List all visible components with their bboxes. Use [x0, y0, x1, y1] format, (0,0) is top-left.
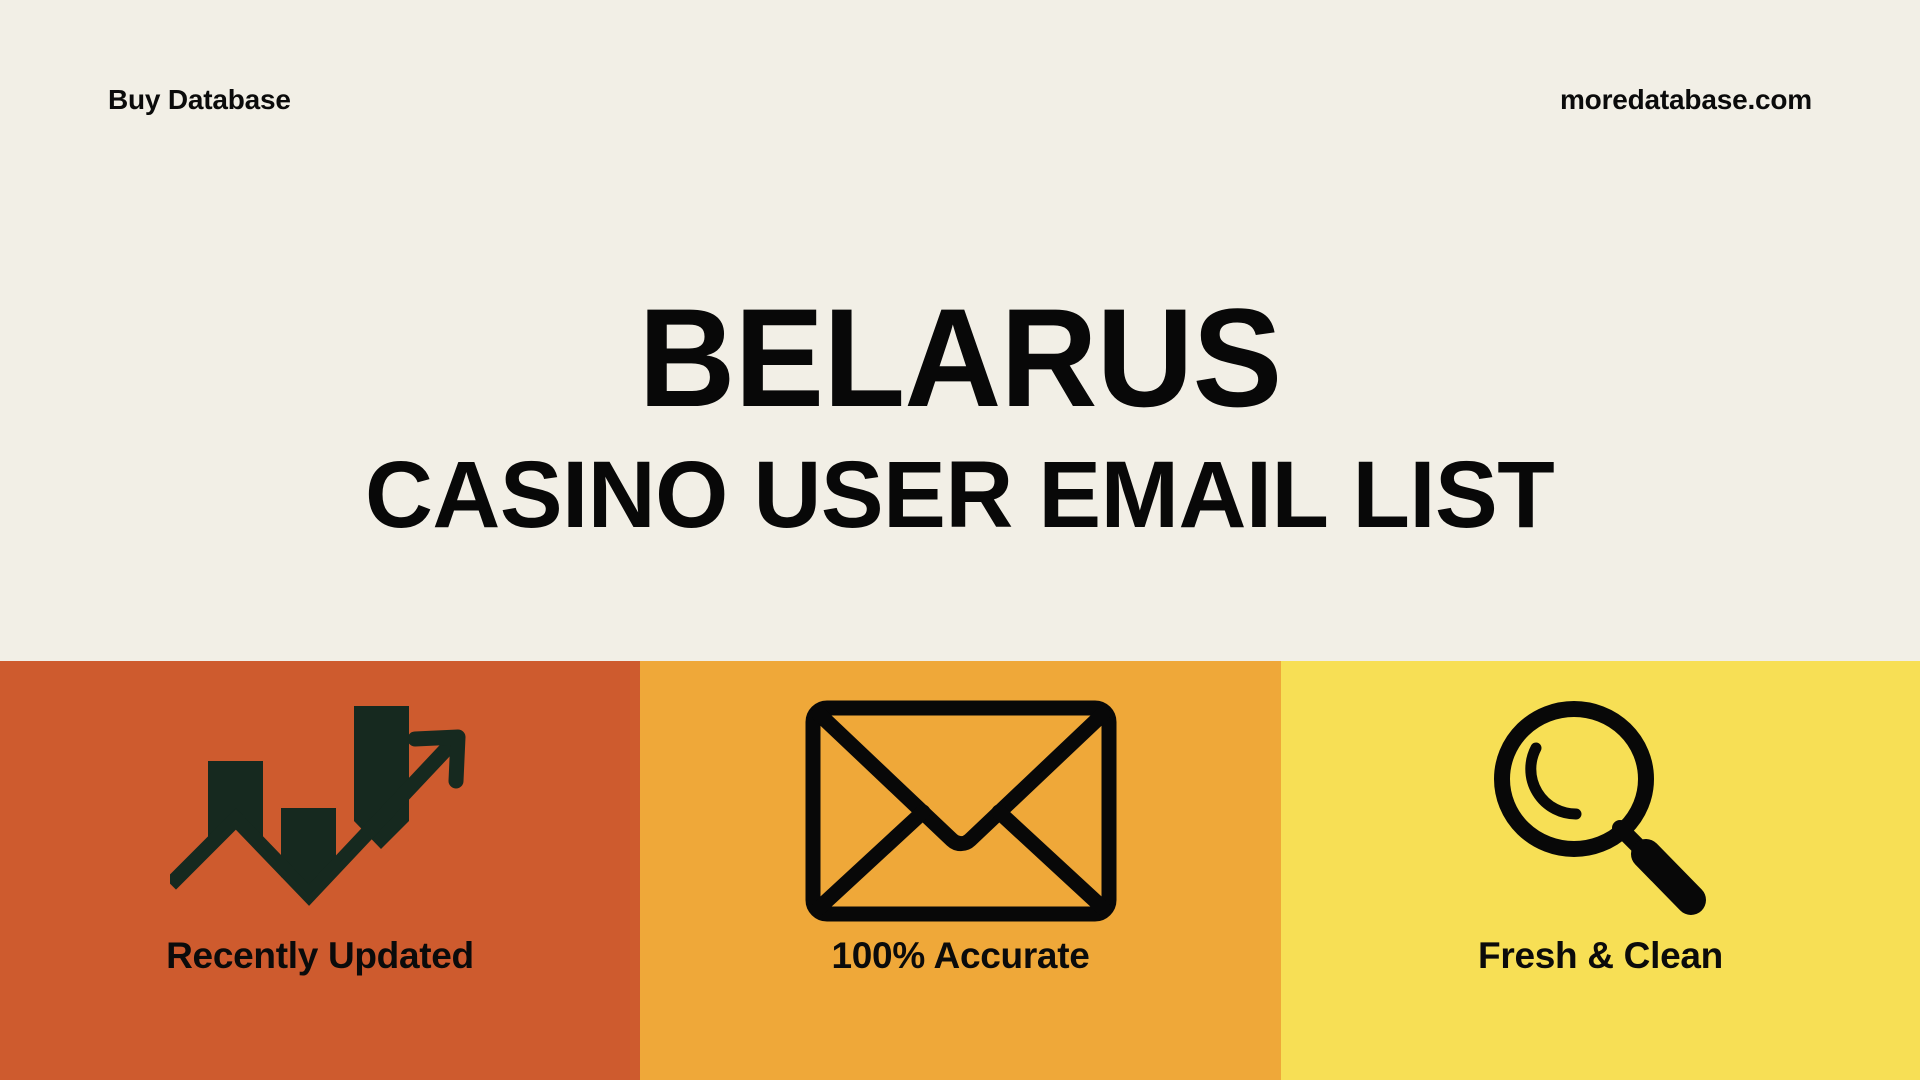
- feature-panel-fresh-clean: Fresh & Clean: [1281, 661, 1920, 1080]
- feature-label-fresh-clean: Fresh & Clean: [1478, 937, 1723, 974]
- feature-panel-recently-updated: Recently Updated: [0, 661, 640, 1080]
- buy-database-label: Buy Database: [108, 86, 291, 114]
- page-subtitle: CASINO USER EMAIL LIST: [365, 446, 1554, 546]
- poster-canvas: Buy Database moredatabase.com BELARUS CA…: [0, 0, 1920, 1080]
- site-domain-label: moredatabase.com: [1560, 86, 1812, 114]
- envelope-icon: [805, 698, 1117, 923]
- feature-panels: Recently Updated 100% Accurate: [0, 661, 1920, 1080]
- header-bar: Buy Database moredatabase.com: [0, 0, 1920, 200]
- magnifier-icon: [1486, 698, 1716, 923]
- page-title: BELARUS: [639, 285, 1282, 431]
- feature-label-recently-updated: Recently Updated: [166, 937, 474, 974]
- feature-panel-accurate: 100% Accurate: [640, 661, 1281, 1080]
- hero-section: BELARUS CASINO USER EMAIL LIST: [0, 200, 1920, 661]
- growth-bar-chart-icon: [170, 698, 470, 923]
- feature-label-accurate: 100% Accurate: [832, 937, 1090, 974]
